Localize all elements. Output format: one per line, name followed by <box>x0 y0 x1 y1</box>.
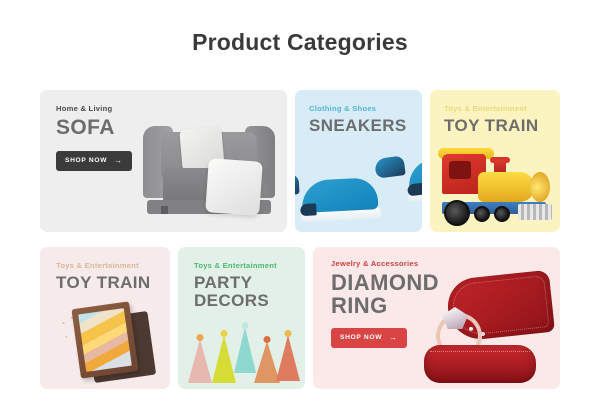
product-image-party-hats <box>186 315 298 383</box>
card-eyebrow: Toys & Entertainment <box>194 261 277 270</box>
sneaker-collar <box>374 156 406 179</box>
sofa-pillow-front <box>205 158 263 216</box>
sneaker-toe-cap <box>300 203 317 216</box>
party-hat <box>212 335 236 383</box>
category-card-toy-train-yellow[interactable]: Toys & Entertainment TOY TRAIN <box>430 90 560 232</box>
party-hat-cone <box>212 335 236 383</box>
card-text-block: Toys & Entertainment PARTY DECORS <box>194 261 277 309</box>
card-text-block: Home & Living SOFA SHOP NOW → <box>56 104 132 171</box>
card-text-block: Jewelry & Accessories DIAMOND RING SHOP … <box>331 259 439 348</box>
card-headline: SNEAKERS <box>309 117 407 135</box>
party-hat-pom <box>285 330 292 337</box>
party-hat-cone <box>188 339 212 383</box>
shop-now-button[interactable]: SHOP NOW → <box>331 328 407 348</box>
card-headline: TOY TRAIN <box>56 274 151 292</box>
train-cabin-window <box>449 161 471 179</box>
abstract-artwork <box>78 308 132 372</box>
card-headline-line1: PARTY <box>194 274 277 292</box>
party-hat-pom <box>197 334 204 341</box>
shop-now-label: SHOP NOW <box>65 157 107 164</box>
card-text-block: Toys & Entertainment TOY TRAIN <box>444 104 539 135</box>
party-hat-pom <box>242 322 249 329</box>
train-wheel <box>474 206 490 222</box>
party-hat <box>188 339 212 383</box>
train-boiler <box>478 172 534 202</box>
card-text-block: Clothing & Shoes SNEAKERS <box>309 104 407 135</box>
train-wheel <box>494 206 510 222</box>
train-cowcatcher-grill <box>518 204 552 220</box>
card-text-block: Toys & Entertainment TOY TRAIN <box>56 261 151 292</box>
card-headline-line2: RING <box>331 295 439 318</box>
product-image-sneakers <box>301 152 419 224</box>
party-hat-cone <box>276 335 300 381</box>
card-row-bottom: Toys & Entertainment TOY TRAIN Toys & En… <box>40 247 560 389</box>
product-image-picture-frame <box>58 297 158 385</box>
sneaker-toe-cap <box>407 183 422 197</box>
party-hat <box>276 335 300 381</box>
party-hat <box>234 327 256 373</box>
card-eyebrow: Toys & Entertainment <box>56 261 151 270</box>
category-card-sneakers[interactable]: Clothing & Shoes SNEAKERS <box>295 90 422 232</box>
card-headline: TOY TRAIN <box>444 117 539 135</box>
ring-box-base <box>424 345 536 383</box>
product-image-toy-train <box>438 146 554 228</box>
sofa-leg-left <box>161 206 168 214</box>
category-card-party-decors[interactable]: Toys & Entertainment PARTY DECORS <box>178 247 305 389</box>
party-hat-pom <box>221 330 228 337</box>
party-hat-pom <box>264 336 271 343</box>
wooden-frame <box>71 301 138 378</box>
card-eyebrow: Jewelry & Accessories <box>331 259 439 268</box>
shop-now-button[interactable]: SHOP NOW → <box>56 151 132 171</box>
card-headline: SOFA <box>56 117 132 139</box>
card-eyebrow: Clothing & Shoes <box>309 104 407 113</box>
shop-now-label: SHOP NOW <box>340 334 382 341</box>
category-card-toy-train-pink[interactable]: Toys & Entertainment TOY TRAIN <box>40 247 170 389</box>
train-wheel <box>444 200 470 226</box>
category-card-diamond-ring[interactable]: Jewelry & Accessories DIAMOND RING SHOP … <box>313 247 560 389</box>
card-eyebrow: Toys & Entertainment <box>444 104 539 113</box>
sneaker-collar <box>295 174 300 196</box>
category-card-sofa[interactable]: Home & Living SOFA SHOP NOW → <box>40 90 287 232</box>
card-row-top: Home & Living SOFA SHOP NOW → <box>40 90 560 232</box>
party-hat-cone <box>234 327 256 373</box>
card-headline-line2: DECORS <box>194 292 277 310</box>
train-front-lamp <box>530 172 550 202</box>
page-title: Product Categories <box>0 0 600 56</box>
category-card-grid: Home & Living SOFA SHOP NOW → <box>40 90 560 389</box>
arrow-right-icon: → <box>114 157 123 165</box>
card-headline-line1: DIAMOND <box>331 272 439 295</box>
product-image-sofa <box>141 116 277 226</box>
card-eyebrow: Home & Living <box>56 104 132 113</box>
gem-sparkle <box>462 321 492 347</box>
arrow-right-icon: → <box>389 334 398 342</box>
